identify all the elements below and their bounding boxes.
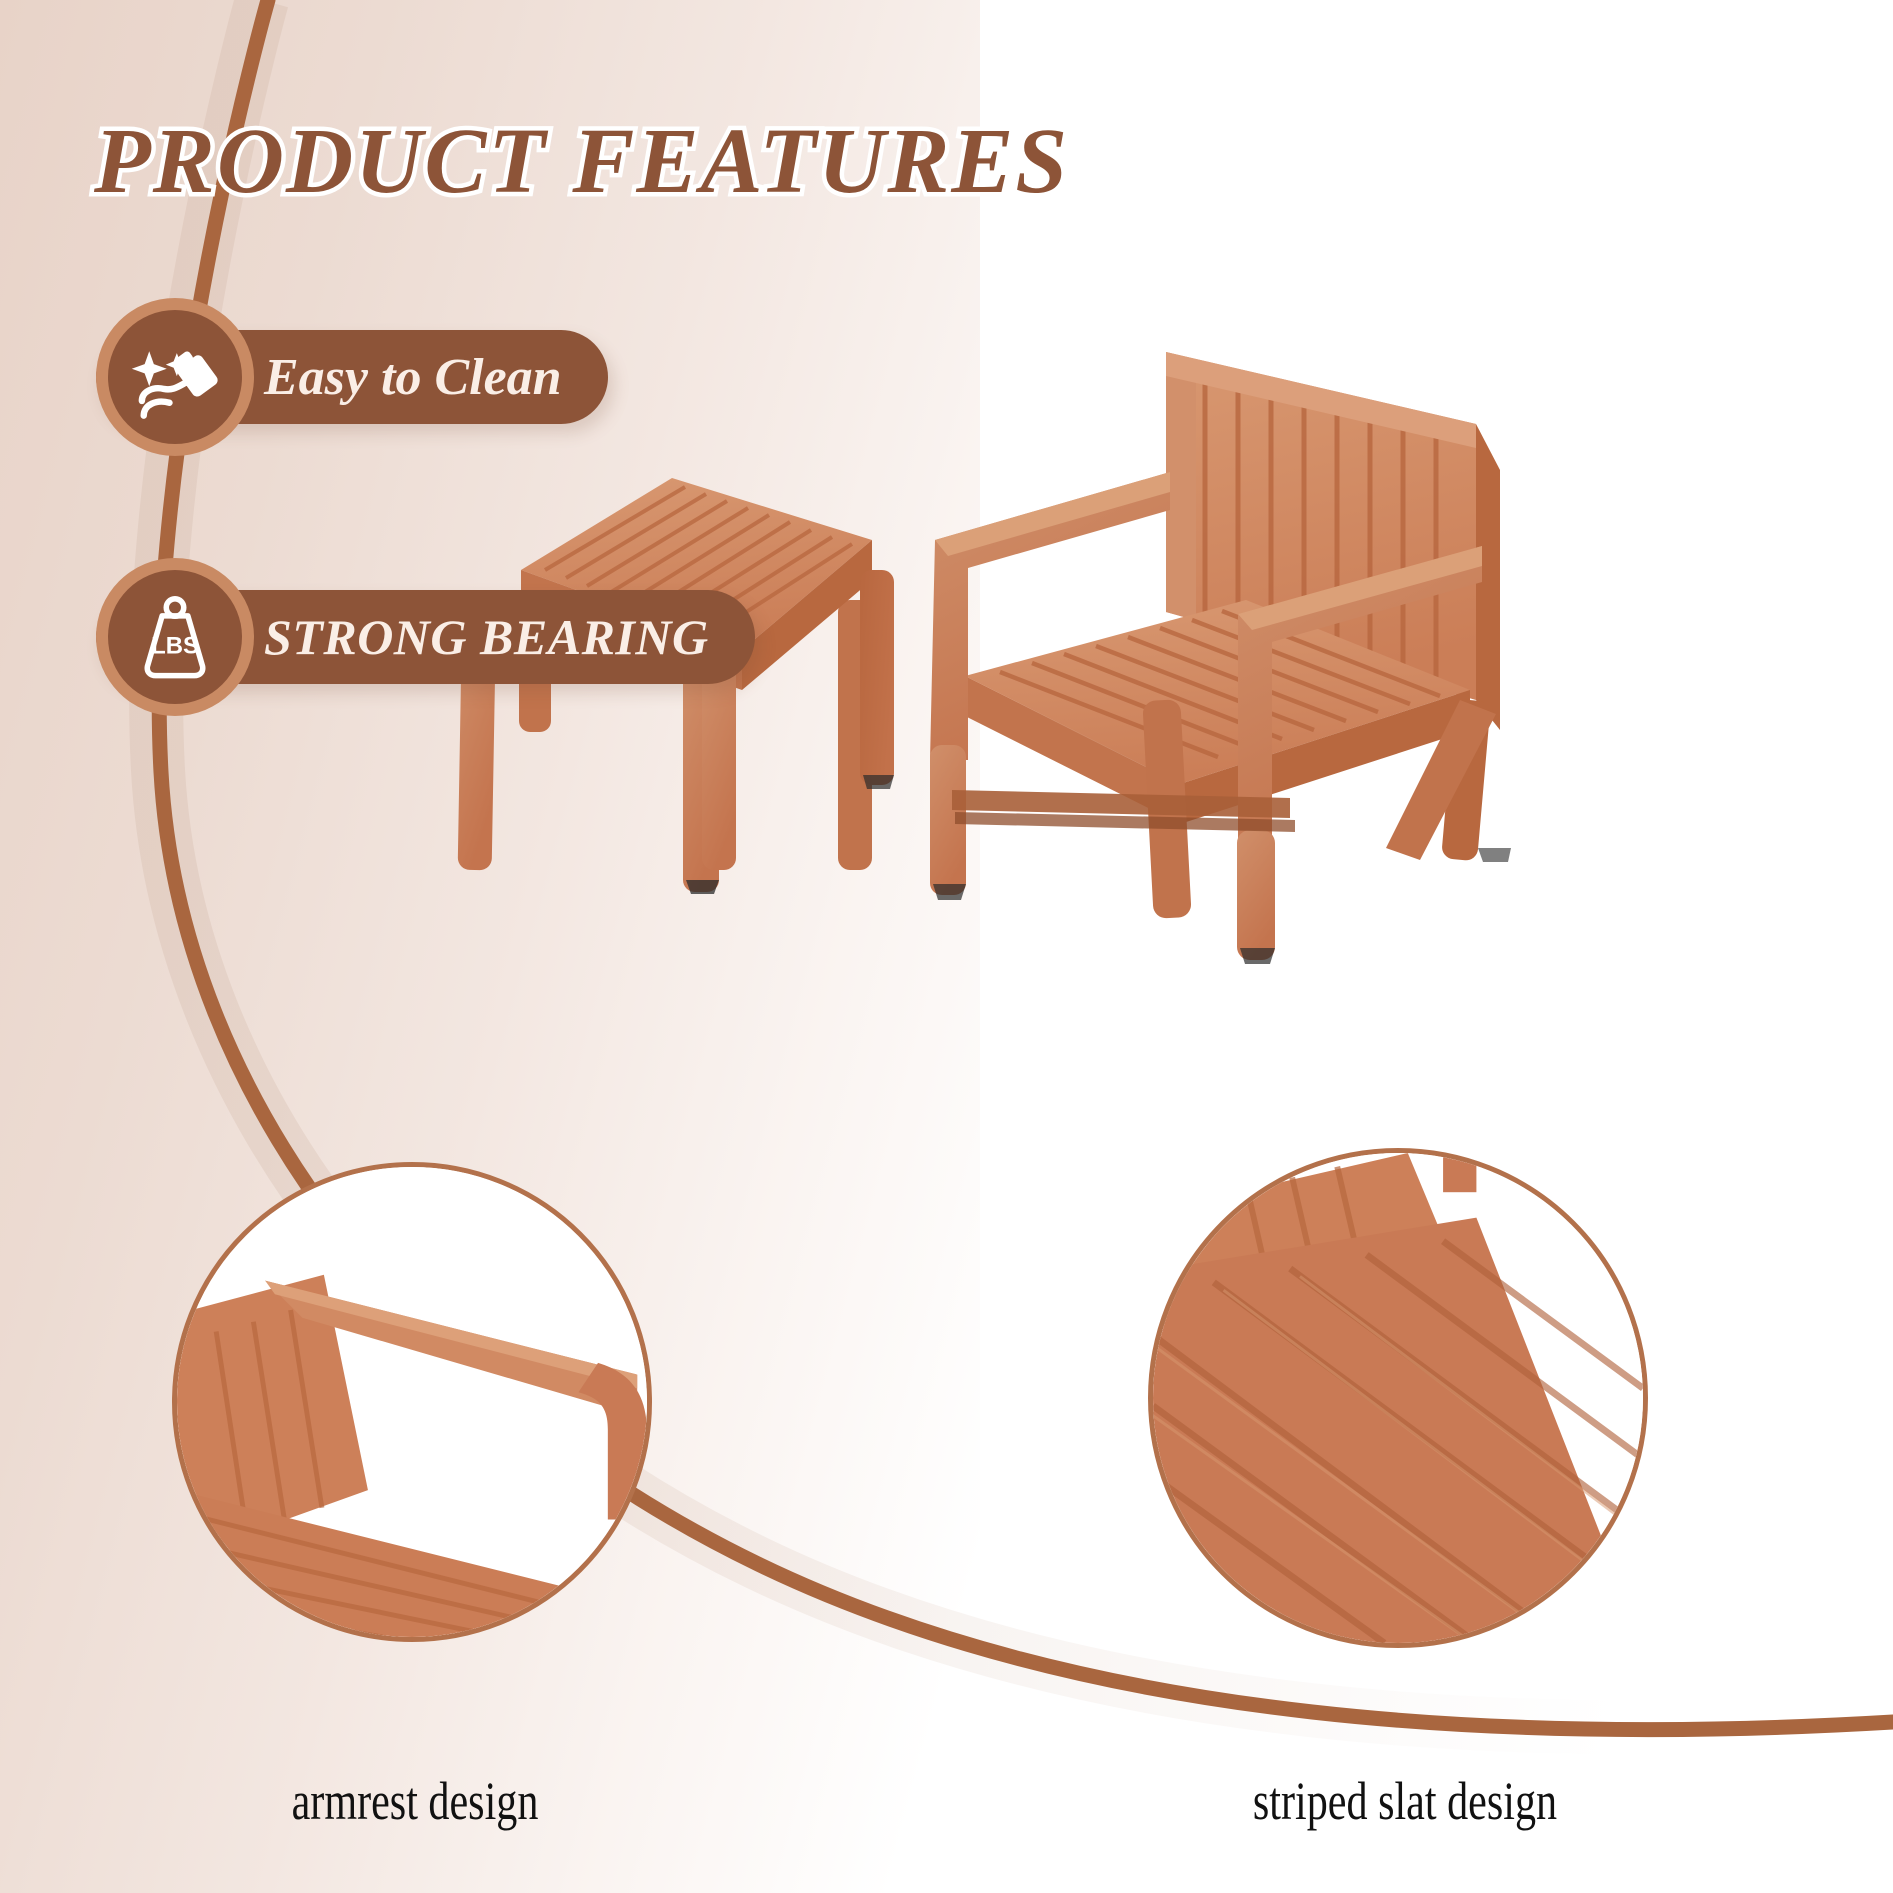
icon-disc bbox=[108, 310, 242, 444]
armrest-detail-circle bbox=[172, 1162, 652, 1642]
strong-bearing-icon-badge: LBS bbox=[96, 558, 254, 716]
armrest-detail-caption: armrest design bbox=[290, 1770, 540, 1832]
striped-slat-detail-circle bbox=[1148, 1148, 1648, 1648]
feature-label: Easy to Clean bbox=[264, 348, 562, 407]
feature-label: STRONG BEARING bbox=[264, 608, 709, 666]
feature-easy-to-clean[interactable]: Easy to Clean bbox=[96, 330, 608, 424]
lbs-label: LBS bbox=[151, 633, 199, 660]
sparkle-wipe-icon bbox=[129, 331, 221, 423]
side-table bbox=[458, 478, 894, 894]
feature-strong-bearing[interactable]: STRONG BEARING LBS bbox=[96, 590, 755, 684]
striped-slat-detail-image bbox=[1153, 1153, 1643, 1643]
page-title: PRODUCT FEATURES bbox=[94, 108, 1069, 215]
easy-to-clean-icon-badge bbox=[96, 298, 254, 456]
weight-lbs-icon: LBS bbox=[129, 591, 221, 683]
icon-disc: LBS bbox=[108, 570, 242, 704]
product-feature-graphic: PRODUCT FEATURES Easy to Clean bbox=[0, 0, 1893, 1893]
armrest-detail-image bbox=[177, 1167, 647, 1637]
armchair bbox=[930, 352, 1511, 964]
striped-slat-detail-caption: striped slat design bbox=[1249, 1770, 1561, 1832]
